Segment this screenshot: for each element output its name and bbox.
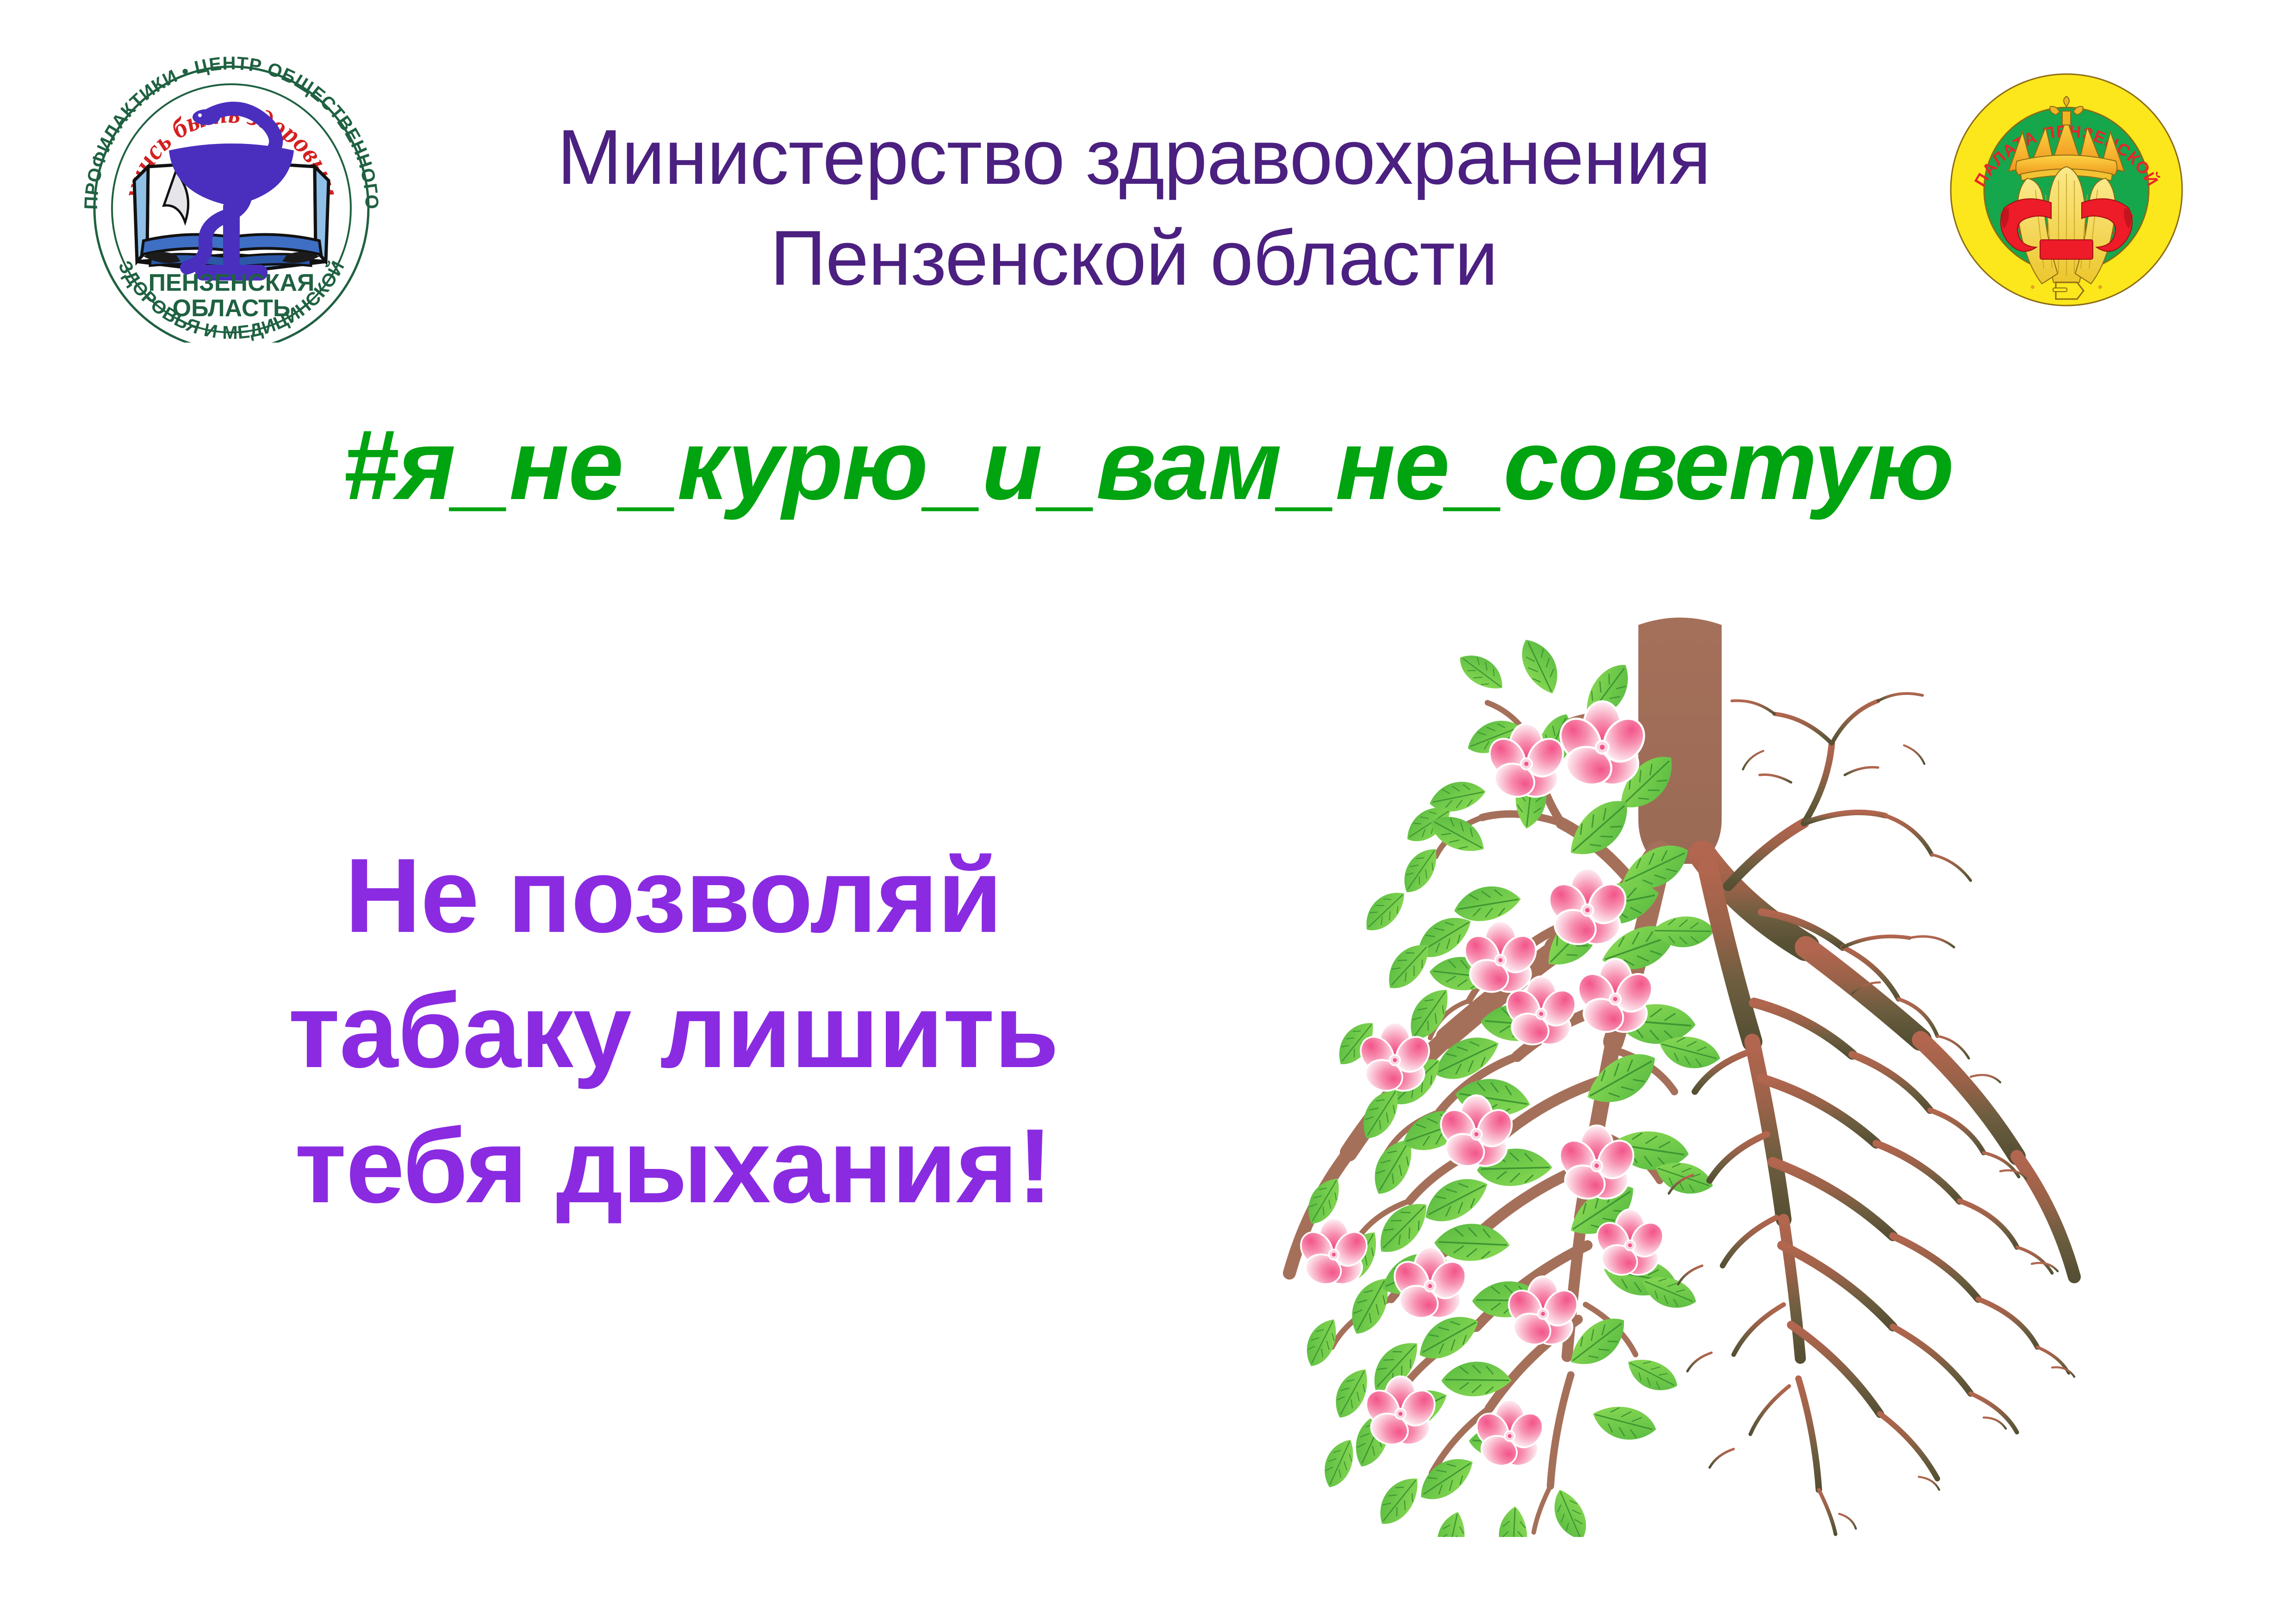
public-chamber-emblem: ПАЛАТА ПЕНЗЕНСКОЙ ОБЩЕСТВЕННАЯ ОБЩЕСТВЕН… (1935, 56, 2198, 319)
slogan-line1: Не позволяй (106, 829, 1240, 964)
poster-slogan: Не позволяй табаку лишить тебя дыхания! (106, 829, 1240, 1234)
centre-public-health-logo: ПРОФИЛАКТИКИ • ЦЕНТР ОБЩЕСТВЕННОГО ЗДОРО… (69, 56, 393, 343)
ministry-title: Министерство здравоохранения Пензенской … (532, 106, 1736, 309)
poster-root: ПРОФИЛАКТИКИ • ЦЕНТР ОБЩЕСТВЕННОГО ЗДОРО… (0, 0, 2296, 1624)
logo-region-line2: ОБЛАСТЬ (173, 295, 291, 322)
dead-branches (1669, 693, 2074, 1534)
slogan-line3: тебя дыхания! (106, 1099, 1240, 1234)
dead-lung-tree (1669, 693, 2074, 1534)
lungs-as-trees-illustration (1152, 616, 2217, 1537)
slogan-line2: табаку лишить (106, 964, 1240, 1099)
ministry-title-line2: Пензенской области (532, 207, 1736, 308)
poster-header: ПРОФИЛАКТИКИ • ЦЕНТР ОБЩЕСТВЕННОГО ЗДОРО… (0, 0, 2296, 352)
trachea (1638, 618, 1722, 864)
campaign-hashtag: #я_не_курю_и_вам_не_советую (0, 407, 2296, 522)
logo-region-line1: ПЕНЗЕНСКАЯ (149, 269, 315, 296)
emblem-wheat-sheaf-icon (2018, 167, 2116, 284)
healthy-lung-tree (1289, 633, 1724, 1537)
ministry-title-line1: Министерство здравоохранения (557, 113, 1711, 200)
